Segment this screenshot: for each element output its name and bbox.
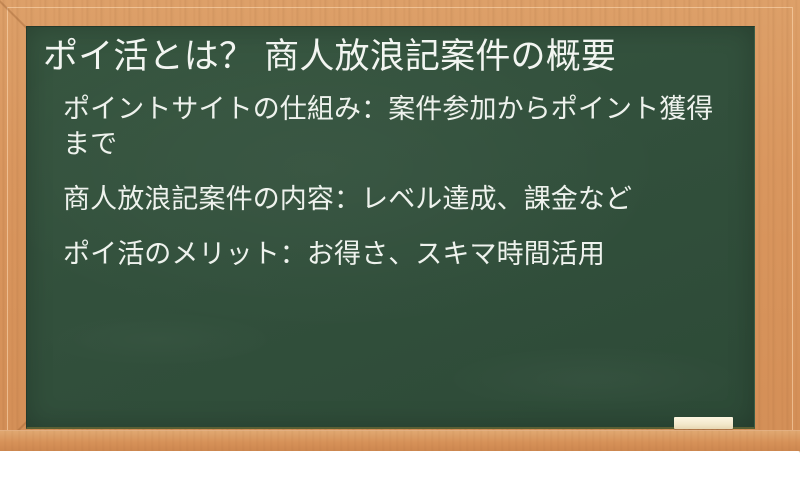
chalkboard-slide: ポイ活とは？ 商人放浪記案件の概要 ポイントサイトの仕組み：案件参加からポイント…	[0, 0, 800, 450]
chalkboard-surface: ポイ活とは？ 商人放浪記案件の概要 ポイントサイトの仕組み：案件参加からポイント…	[26, 26, 755, 429]
chalk-stick-icon	[674, 417, 733, 429]
bullet-item: ポイントサイトの仕組み：案件参加からポイント獲得まで	[63, 92, 733, 162]
chalk-ledge	[0, 430, 800, 451]
board-content: ポイ活とは？ 商人放浪記案件の概要 ポイントサイトの仕組み：案件参加からポイント…	[27, 27, 754, 272]
bullet-list: ポイントサイトの仕組み：案件参加からポイント獲得まで 商人放浪記案件の内容：レベ…	[41, 92, 738, 272]
slide-title: ポイ活とは？ 商人放浪記案件の概要	[41, 35, 738, 78]
bullet-item: 商人放浪記案件の内容：レベル達成、課金など	[63, 182, 733, 217]
bullet-item: ポイ活のメリット：お得さ、スキマ時間活用	[63, 237, 733, 272]
